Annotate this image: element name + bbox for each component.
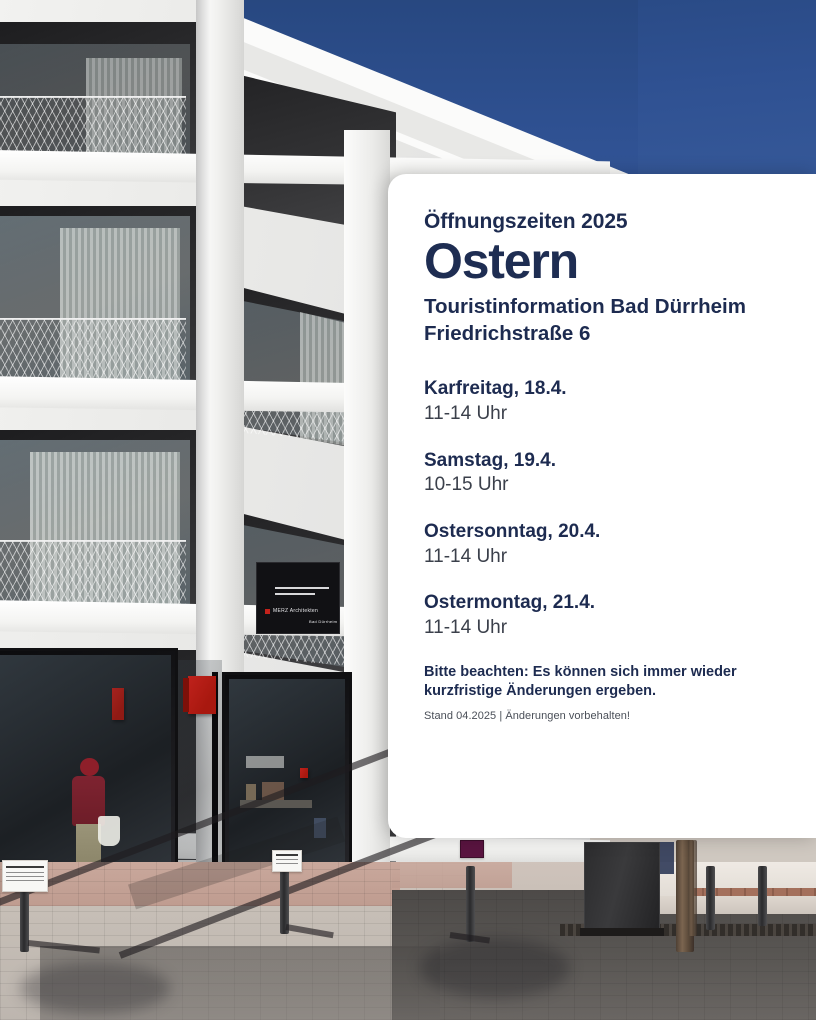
sign-bar-2 <box>275 593 315 595</box>
hours-day: Ostersonntag, 20.4. <box>424 520 782 544</box>
bollard-4 <box>706 866 715 930</box>
bollard-notice-2 <box>272 850 302 872</box>
hours-row: Samstag, 19.4. 10-15 Uhr <box>424 449 782 498</box>
card-stand-line: Stand 04.2025 | Änderungen vorbehalten! <box>424 710 782 722</box>
hours-row: Ostermontag, 21.4. 11-14 Uhr <box>424 591 782 640</box>
balcony-mesh-3 <box>0 540 186 605</box>
card-notice: Bitte beachten: Es können sich immer wie… <box>424 663 782 701</box>
red-sign-box <box>188 676 216 714</box>
tree-trunk-branch <box>688 840 697 936</box>
red-sign-reflection <box>112 688 124 720</box>
balcony-rail-3 <box>0 540 186 542</box>
hours-time: 11-14 Uhr <box>424 616 782 641</box>
sign-company-text: MERZ Architekten <box>273 608 318 614</box>
balcony-rail-1 <box>0 96 186 98</box>
soft-shadow-left <box>20 962 170 1014</box>
notice-line-1b <box>6 876 44 877</box>
poster-image: MERZ Architekten Bad Dürrheim <box>0 0 816 1020</box>
balcony-mesh-1 <box>0 96 186 159</box>
opening-hours-card: Öffnungszeiten 2025 Ostern Touristinform… <box>388 174 816 838</box>
soft-shadow-right <box>420 938 570 998</box>
bollard-notice-3 <box>460 840 484 858</box>
bollard-notice-1 <box>2 860 48 892</box>
interior-notice <box>246 756 284 768</box>
card-organisation: Touristinformation Bad Dürrheim <box>424 293 782 320</box>
card-address: Friedrichstraße 6 <box>424 320 782 347</box>
bollard-2 <box>280 862 289 934</box>
hours-time: 11-14 Uhr <box>424 545 782 570</box>
paving-red-band-2 <box>392 862 512 888</box>
hours-time: 11-14 Uhr <box>424 402 782 427</box>
opening-hours-list: Karfreitag, 18.4. 11-14 Uhr Samstag, 19.… <box>424 377 782 641</box>
architect-sign: MERZ Architekten Bad Dürrheim <box>256 562 340 634</box>
kiosk-base <box>580 928 664 936</box>
mannequin-head <box>80 758 99 776</box>
mannequin-shopping-bag <box>98 816 120 846</box>
notice-line-2b <box>276 863 298 864</box>
bollard-5 <box>758 866 767 926</box>
hours-day: Karfreitag, 18.4. <box>424 377 782 401</box>
balcony-rail-2 <box>0 318 186 320</box>
card-kicker: Öffnungszeiten 2025 <box>424 210 782 234</box>
hours-day: Ostermontag, 21.4. <box>424 591 782 615</box>
hours-day: Samstag, 19.4. <box>424 449 782 473</box>
card-headline: Ostern <box>424 236 782 287</box>
info-kiosk-panel <box>584 842 660 936</box>
notice-title-2 <box>276 854 298 856</box>
notice-line-2a <box>276 859 298 860</box>
interior-object-1 <box>246 784 256 800</box>
sign-bar-1 <box>275 587 329 589</box>
red-sticker <box>300 768 308 778</box>
sign-red-square <box>265 609 270 614</box>
sign-small-text: Bad Dürrheim <box>309 619 337 624</box>
hours-row: Ostersonntag, 20.4. 11-14 Uhr <box>424 520 782 569</box>
notice-title-1 <box>6 866 44 868</box>
notice-line-1a <box>6 872 44 873</box>
pedestrian <box>660 842 674 874</box>
balcony-mesh-2 <box>0 318 186 383</box>
red-sign-box-side <box>183 678 189 712</box>
hours-time: 10-15 Uhr <box>424 473 782 498</box>
hours-row: Karfreitag, 18.4. 11-14 Uhr <box>424 377 782 426</box>
bollard-3 <box>466 866 475 942</box>
notice-line-1c <box>6 880 44 881</box>
